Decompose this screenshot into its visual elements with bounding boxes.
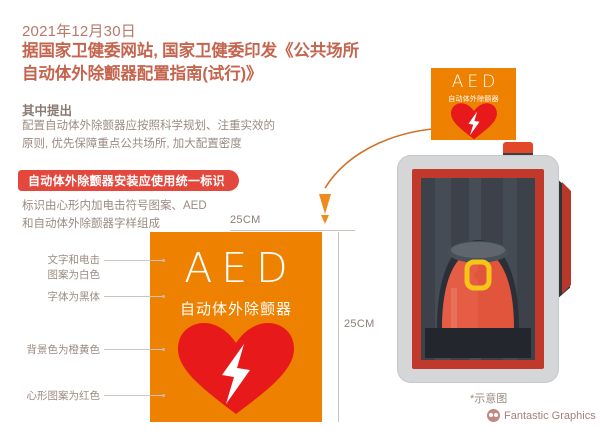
aed-sign-title: AED	[150, 248, 322, 289]
annotation-font: 字体为黑体	[20, 290, 100, 305]
aed-sign-small-title: AED	[431, 74, 516, 91]
brand-credit: Fantastic Graphics	[487, 409, 596, 422]
annotation-1-line-2: 图案为白色	[20, 268, 100, 283]
leader-line-4	[104, 395, 164, 396]
dimension-label-height: 25CM	[344, 318, 375, 330]
brand-name: Fantastic Graphics	[504, 410, 596, 422]
section-banner: 自动体外除颤器安装应使用统一标识	[18, 170, 239, 191]
disclaimer-text: *示意图	[470, 390, 507, 406]
cabinet-top-light	[503, 142, 533, 156]
leader-dot-2	[162, 295, 165, 298]
annotation-background-color: 背景色为橙黄色	[4, 343, 100, 358]
dimension-line-top	[230, 230, 355, 231]
brand-logo-icon	[487, 409, 500, 422]
cabinet-door-panel	[562, 182, 571, 294]
headline-line-2: 自动体外除颤器配置指南(试行)》	[22, 63, 422, 86]
infographic-root: 2021年12月30日 据国家卫健委网站, 国家卫健委印发《公共场所 自动体外除…	[0, 0, 600, 434]
note-paragraph: 标识由心形内加电击符号图案、AED 和自动体外除颤器字样组成	[22, 198, 252, 234]
annotation-heart-color: 心形图案为红色	[4, 389, 100, 404]
aed-bag-illustration	[421, 178, 535, 360]
aed-cabinet	[397, 155, 559, 383]
page-title: 据国家卫健委网站, 国家卫健委印发《公共场所 自动体外除颤器配置指南(试行)》	[22, 40, 422, 86]
headline-line-1: 据国家卫健委网站, 国家卫健委印发《公共场所	[22, 42, 359, 60]
leader-dot-1	[162, 259, 165, 262]
leader-line-1	[104, 260, 164, 261]
leader-dot-4	[162, 394, 165, 397]
aed-sign-small: AED 自动体外除颤器	[431, 68, 516, 140]
subheading: 其中提出	[22, 100, 72, 119]
dimension-label-width: 25CM	[230, 214, 261, 226]
heart-bolt-icon	[174, 320, 298, 416]
annotation-2-line-1: 字体为黑体	[20, 290, 100, 305]
dimension-line-right	[338, 232, 339, 422]
annotation-4-line-1: 心形图案为红色	[4, 389, 100, 404]
leader-line-2	[104, 296, 164, 297]
note-line-1: 标识由心形内加电击符号图案、AED	[22, 198, 252, 216]
note-line-2: 和自动体外除颤器字样组成	[22, 216, 252, 234]
article-date: 2021年12月30日	[22, 20, 136, 41]
annotation-text-color: 文字和电击 图案为白色	[20, 253, 100, 283]
annotation-3-line-1: 背景色为橙黄色	[4, 343, 100, 358]
cabinet-frame	[412, 169, 544, 369]
annotation-1-line-1: 文字和电击	[20, 253, 100, 268]
aed-sign-subtitle: 自动体外除颤器	[150, 298, 322, 319]
leader-line-3	[104, 349, 164, 350]
heart-bolt-icon-small	[448, 102, 500, 140]
leader-dot-3	[162, 348, 165, 351]
aed-sign-large: AED 自动体外除颤器	[150, 232, 322, 422]
cabinet-interior	[421, 178, 535, 360]
